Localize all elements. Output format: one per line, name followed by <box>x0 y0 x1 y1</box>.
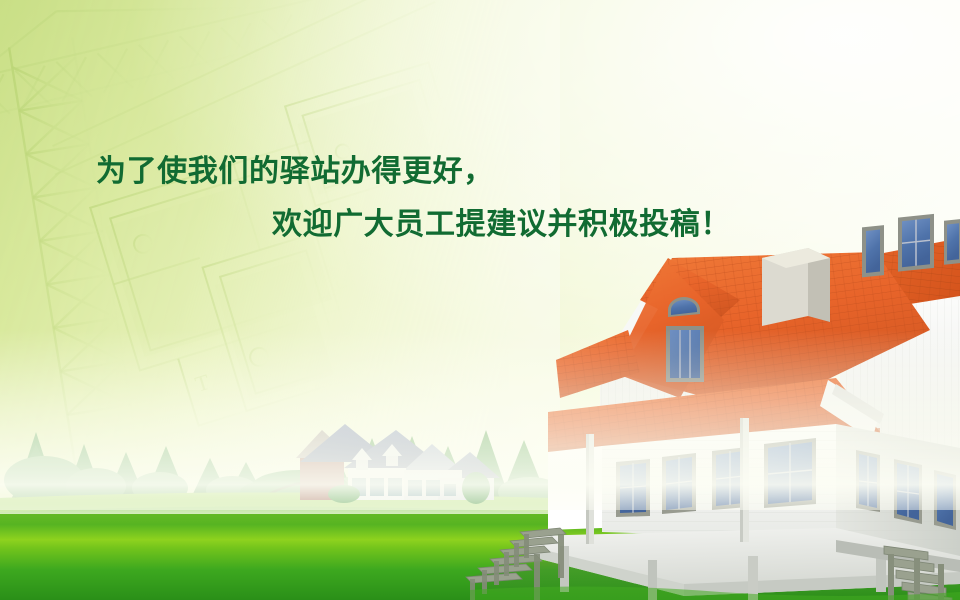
horizon-haze <box>0 480 960 514</box>
chimney <box>762 248 830 326</box>
broadleaf-mid <box>326 476 562 508</box>
window-front-3 <box>712 447 748 510</box>
deck-pier-1 <box>560 546 569 592</box>
headline-line-1: 为了使我们的驿站办得更好， <box>96 157 494 187</box>
deck-pier-3 <box>748 556 758 600</box>
window-right-upper-3 <box>944 219 960 265</box>
scenery-layer <box>0 0 960 600</box>
window-side-3 <box>934 470 956 530</box>
horizon-haze-overlay <box>0 330 960 510</box>
wall-white-2 <box>404 470 462 500</box>
porch-eave-right <box>820 380 880 440</box>
window-arched <box>668 297 700 317</box>
conifer-group-left <box>10 432 266 502</box>
house-shadow <box>470 554 960 600</box>
wall-white-3 <box>438 478 494 500</box>
window-front-4 <box>764 438 816 508</box>
roof-right <box>438 452 500 478</box>
grass-overlap <box>470 586 960 600</box>
distant-house-body <box>296 424 500 504</box>
upper-wall-right <box>840 283 960 470</box>
porch-eave-right-shadow <box>832 384 884 424</box>
gable-right <box>838 250 960 300</box>
roof-wing-left <box>556 330 640 398</box>
watermark-glyph: T <box>192 369 213 397</box>
porch-posts <box>560 418 886 600</box>
gable-wall-left-texture <box>600 265 760 470</box>
roof-porch-tiles <box>548 378 880 452</box>
wall-lower-front-texture <box>602 424 836 540</box>
dormers <box>352 444 402 470</box>
shrub <box>462 472 490 504</box>
brick-wall <box>300 455 344 500</box>
wall-lower-right <box>836 424 960 560</box>
wall-lower-right-texture <box>836 424 960 560</box>
roof-wing-left-tiles <box>556 330 640 398</box>
shrub-2 <box>328 485 360 503</box>
roof-left <box>300 424 392 462</box>
window-gable-left <box>666 326 704 382</box>
window-side-2 <box>894 459 922 524</box>
side-steps <box>884 546 952 600</box>
broadleaf-left <box>4 456 258 504</box>
front-steps <box>466 528 566 600</box>
conifer-group-right <box>574 436 656 500</box>
crane-tower <box>9 37 139 470</box>
main-house <box>0 0 960 600</box>
roof-porch-edge <box>548 428 880 456</box>
spreading-tree <box>240 470 348 504</box>
banner-canvas: T <box>0 0 960 600</box>
gable-wall-left <box>600 265 760 470</box>
deck-pier-4 <box>876 552 886 592</box>
roof-right-slope <box>822 238 960 318</box>
roof-dormer <box>404 444 462 470</box>
roof-gable-left-tiles <box>640 258 740 332</box>
headline-line-2: 欢迎广大员工提建议并积极投稿！ <box>272 210 731 240</box>
background-house <box>0 0 960 600</box>
porch-deck <box>528 528 960 596</box>
grass-highlight-band <box>0 492 960 514</box>
brick-gable <box>296 430 352 458</box>
roof-gable-left <box>640 258 740 332</box>
deck-pier-2 <box>648 560 657 600</box>
gable-barge-left <box>596 258 680 376</box>
tree-line <box>4 430 656 508</box>
wall-lower-front <box>602 424 836 540</box>
roof-main <box>612 252 930 412</box>
window-row-front <box>616 438 816 517</box>
window-row-right <box>856 450 956 530</box>
wall-white <box>348 468 406 500</box>
grass-field <box>0 492 960 600</box>
roof-right-tiles <box>822 238 960 318</box>
conifer-group-mid <box>316 430 580 500</box>
roof-gable-left-b <box>612 262 724 398</box>
roof-porch <box>548 378 880 452</box>
foundation <box>836 540 960 572</box>
porch-deck-edge-2 <box>684 572 960 596</box>
window-right-upper-2 <box>898 214 934 272</box>
sunroom-windows <box>352 478 456 496</box>
wall-panel-left <box>548 446 602 530</box>
window-right-upper-1 <box>862 225 884 277</box>
upper-wall-right-texture <box>840 283 960 470</box>
roof-mid <box>344 430 452 474</box>
watermark-plan-shapes <box>93 89 485 426</box>
roof-main-tiles <box>612 252 930 412</box>
window-front-1 <box>616 459 650 517</box>
crane-jib <box>0 0 333 165</box>
porch-deck-edge <box>528 546 684 596</box>
window-side-1 <box>856 450 880 512</box>
window-front-2 <box>662 453 696 514</box>
